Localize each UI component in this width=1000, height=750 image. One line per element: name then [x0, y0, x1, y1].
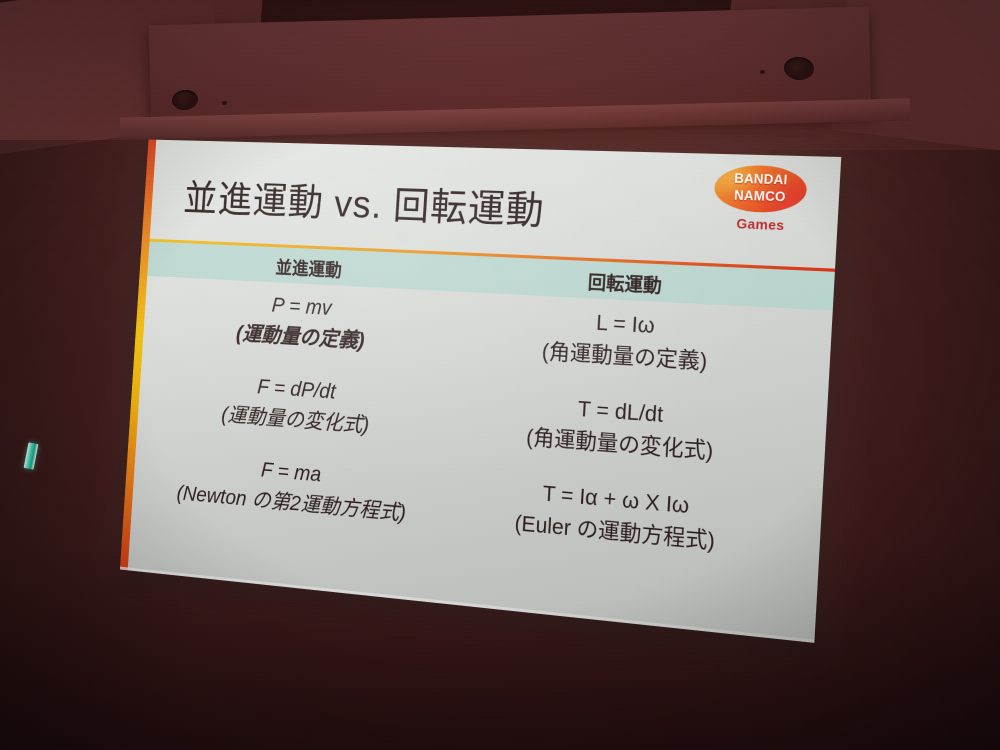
- cell-translational-1: P = mv (運動量の定義): [151, 285, 457, 362]
- table-header-translational: 並進運動: [167, 249, 459, 288]
- bandai-namco-logo: BANDAI NAMCO Games: [712, 164, 812, 234]
- table-header-rotational: 回転運動: [466, 263, 792, 306]
- logo-wordmark: BANDAI NAMCO: [714, 170, 808, 207]
- projection-area: BANDAI NAMCO Games 並進運動 vs. 回転運動 並進運動 回転…: [0, 0, 1000, 750]
- logo-caption: Games: [712, 215, 809, 234]
- presentation-slide: BANDAI NAMCO Games 並進運動 vs. 回転運動 並進運動 回転…: [120, 140, 841, 643]
- logo-oval-icon: BANDAI NAMCO: [713, 164, 808, 213]
- table-body: P = mv (運動量の定義) L = Iω (角運動量の定義) F = dP/…: [131, 284, 833, 592]
- slide-content: BANDAI NAMCO Games 並進運動 vs. 回転運動 並進運動 回転…: [128, 140, 842, 643]
- cell-rotational-1: L = Iω (角運動量の定義): [458, 301, 801, 384]
- logo-line-2: NAMCO: [714, 186, 807, 206]
- screenshot-root: BANDAI NAMCO Games 並進運動 vs. 回転運動 並進運動 回転…: [0, 0, 1000, 750]
- slide-title: 並進運動 vs. 回転運動: [182, 177, 546, 236]
